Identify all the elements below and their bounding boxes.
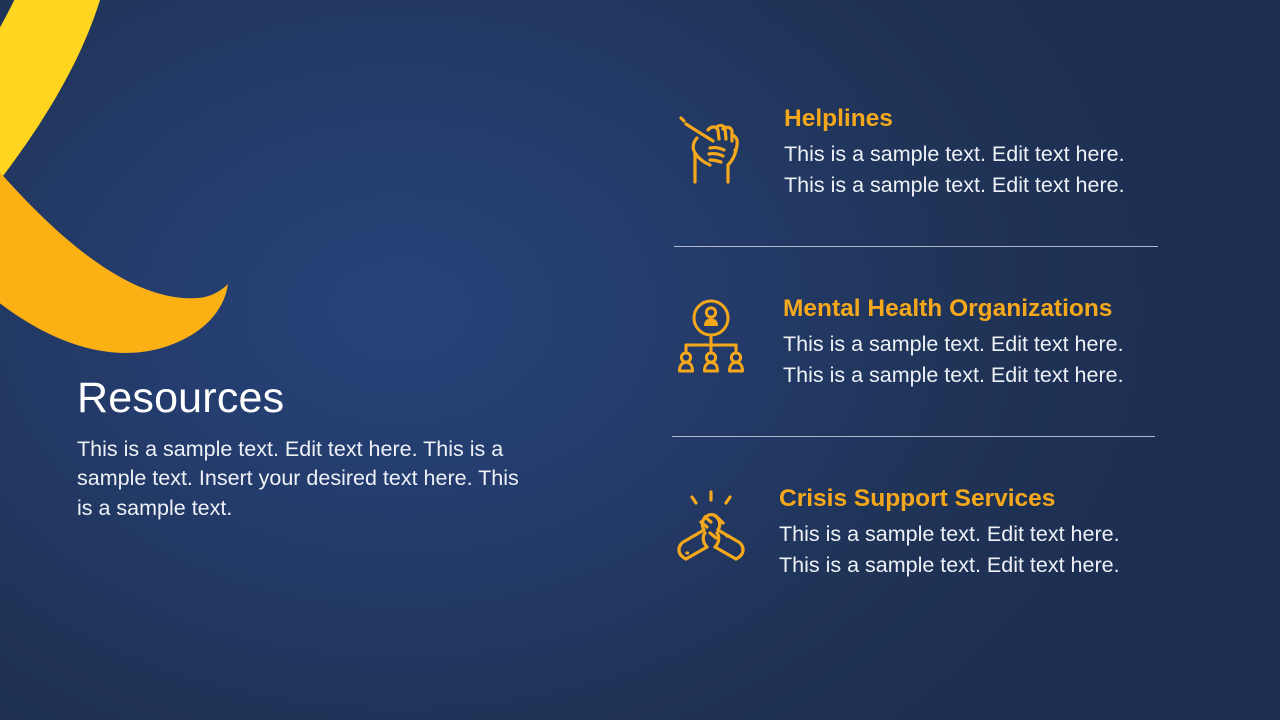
helping-hands-icon	[672, 104, 750, 190]
resource-line-2: This is a sample text. Edit text here.	[779, 549, 1168, 580]
page-title: Resources	[77, 376, 547, 421]
resource-heading: Mental Health Organizations	[783, 296, 1168, 323]
resource-text-block: Helplines This is a sample text. Edit te…	[750, 104, 1168, 200]
solidarity-handshake-icon	[672, 484, 750, 570]
page-subtitle: This is a sample text. Edit text here. T…	[77, 421, 529, 523]
resource-line-2: This is a sample text. Edit text here.	[784, 169, 1168, 200]
resource-heading: Crisis Support Services	[779, 486, 1168, 513]
resource-line-1: This is a sample text. Edit text here.	[784, 133, 1168, 169]
title-block: Resources This is a sample text. Edit te…	[77, 376, 547, 523]
resource-heading: Helplines	[784, 106, 1168, 133]
organization-chart-people-icon	[672, 294, 750, 380]
resource-text-block: Mental Health Organizations This is a sa…	[750, 294, 1168, 390]
resource-line-1: This is a sample text. Edit text here.	[783, 323, 1168, 359]
resource-line-1: This is a sample text. Edit text here.	[779, 513, 1168, 549]
resource-item-helplines[interactable]: Helplines This is a sample text. Edit te…	[672, 104, 1168, 200]
slide-canvas: Resources This is a sample text. Edit te…	[0, 0, 1280, 720]
awareness-ribbon	[0, 0, 300, 380]
resource-text-block: Crisis Support Services This is a sample…	[750, 484, 1168, 580]
resource-item-mental-health-organizations[interactable]: Mental Health Organizations This is a sa…	[672, 294, 1168, 390]
resource-item-crisis-support-services[interactable]: Crisis Support Services This is a sample…	[672, 484, 1168, 580]
resource-line-2: This is a sample text. Edit text here.	[783, 359, 1168, 390]
resources-list: Helplines This is a sample text. Edit te…	[672, 104, 1168, 580]
